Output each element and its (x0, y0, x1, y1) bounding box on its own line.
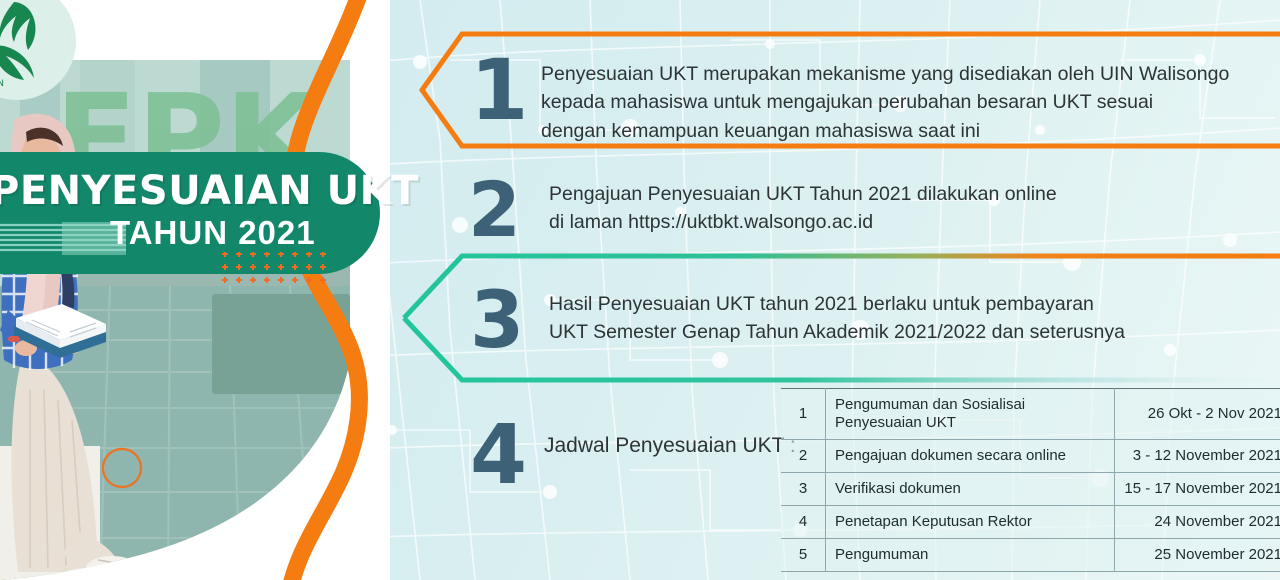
item-3-number: 3 (470, 282, 524, 360)
orange-dot-grid-decoration (222, 252, 330, 292)
row-number: 1 (781, 389, 826, 440)
item-1-text: Penyesuaian UKT merupakan mekanisme yang… (541, 60, 1271, 145)
table-row: 3 Verifikasi dokumen 15 - 17 November 20… (781, 473, 1280, 506)
banner-title: PENYESUAIAN UKT (0, 168, 350, 214)
row-number: 2 (781, 440, 826, 473)
table-row: 2 Pengajuan dokumen secara online 3 - 12… (781, 440, 1280, 473)
row-number: 4 (781, 506, 826, 539)
stripe-decoration-icon (0, 222, 126, 256)
svg-text:UIN: UIN (0, 79, 4, 89)
banner-subtitle: TAHUN 2021 (110, 214, 316, 252)
row-activity: Pengumuman dan Sosialisai Penyesuaian UK… (826, 389, 1115, 440)
schedule-table-body: 1 Pengumuman dan Sosialisai Penyesuaian … (781, 389, 1280, 572)
row-number: 3 (781, 473, 826, 506)
row-activity: Pengumuman (826, 539, 1115, 572)
item-2-number: 2 (468, 172, 521, 248)
orange-circle-accent (100, 446, 144, 490)
row-date: 25 November 2021 (1115, 539, 1280, 572)
row-date: 26 Okt - 2 Nov 2021 (1115, 389, 1280, 440)
item-2-text: Pengajuan Penyesuaian UKT Tahun 2021 dil… (549, 180, 1249, 237)
item-3-text: Hasil Penyesuaian UKT tahun 2021 berlaku… (549, 290, 1269, 347)
table-row: 1 Pengumuman dan Sosialisai Penyesuaian … (781, 389, 1280, 440)
row-date: 15 - 17 November 2021 (1115, 473, 1280, 506)
item-4-number: 4 (470, 415, 527, 497)
row-number: 5 (781, 539, 826, 572)
item-1-number: 1 (470, 48, 528, 132)
row-date: 3 - 12 November 2021 (1115, 440, 1280, 473)
row-activity: Pengajuan dokumen secara online (826, 440, 1115, 473)
table-row: 5 Pengumuman 25 November 2021 (781, 539, 1280, 572)
row-activity: Verifikasi dokumen (826, 473, 1115, 506)
infographic-canvas: 1 Penyesuaian UKT merupakan mekanisme ya… (0, 0, 1280, 580)
table-row: 4 Penetapan Keputusan Rektor 24 November… (781, 506, 1280, 539)
row-date: 24 November 2021 (1115, 506, 1280, 539)
schedule-table: 1 Pengumuman dan Sosialisai Penyesuaian … (781, 388, 1280, 572)
schedule-label: Jadwal Penyesuaian UKT : (544, 434, 796, 458)
row-activity: Penetapan Keputusan Rektor (826, 506, 1115, 539)
